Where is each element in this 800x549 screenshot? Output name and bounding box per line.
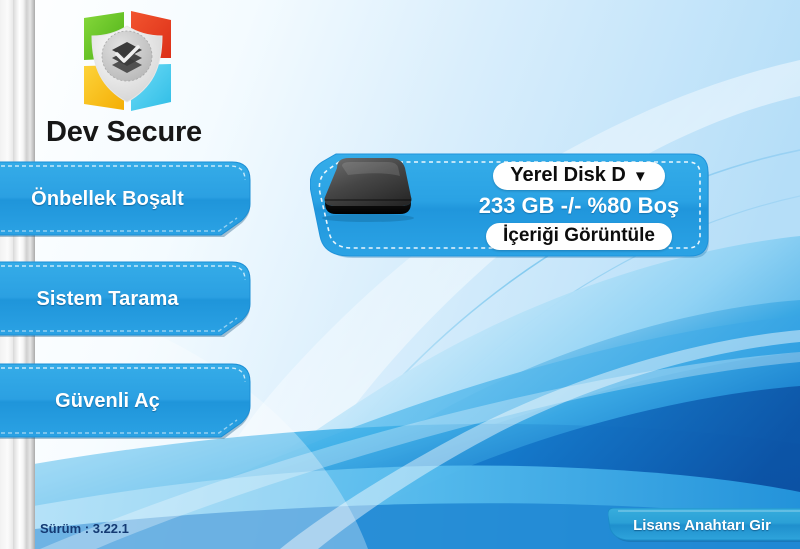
sidebar-item-label: Sistem Tarama	[0, 260, 215, 339]
browse-contents-button[interactable]: İçeriği Görüntüle	[486, 223, 672, 250]
disk-panel: Yerel Disk D ▼ 233 GB -/- %80 Boş İçeriğ…	[310, 152, 710, 260]
external-hard-drive-icon	[310, 152, 422, 222]
sidebar-item-label: Önbellek Boşalt	[0, 160, 215, 239]
browse-contents-label: İçeriği Görüntüle	[503, 225, 655, 247]
enter-license-key-label: Lisans Anahtarı Gir	[608, 508, 800, 542]
drive-select[interactable]: Yerel Disk D ▼	[493, 162, 664, 190]
sidebar-item-label: Güvenli Aç	[0, 362, 215, 441]
disk-capacity-text: 233 GB -/- %80 Boş	[479, 193, 680, 219]
version-label: Sürüm : 3.22.1	[40, 521, 129, 536]
shield-check-window-logo-icon	[72, 6, 182, 116]
sidebar-item-secure-open[interactable]: Güvenli Aç	[0, 362, 258, 441]
page-title: Dev Secure	[46, 118, 270, 147]
disk-info-group: Yerel Disk D ▼ 233 GB -/- %80 Boş İçeriğ…	[460, 160, 698, 252]
chevron-down-icon: ▼	[633, 169, 648, 184]
drive-select-label: Yerel Disk D	[510, 164, 626, 187]
brand-block: Dev Secure	[40, 6, 270, 147]
sidebar-item-clear-cache[interactable]: Önbellek Boşalt	[0, 160, 258, 239]
application-window: Dev Secure Önbellek Boşalt	[0, 0, 800, 549]
enter-license-key-button[interactable]: Lisans Anahtarı Gir	[608, 508, 800, 542]
sidebar-item-system-scan[interactable]: Sistem Tarama	[0, 260, 258, 339]
